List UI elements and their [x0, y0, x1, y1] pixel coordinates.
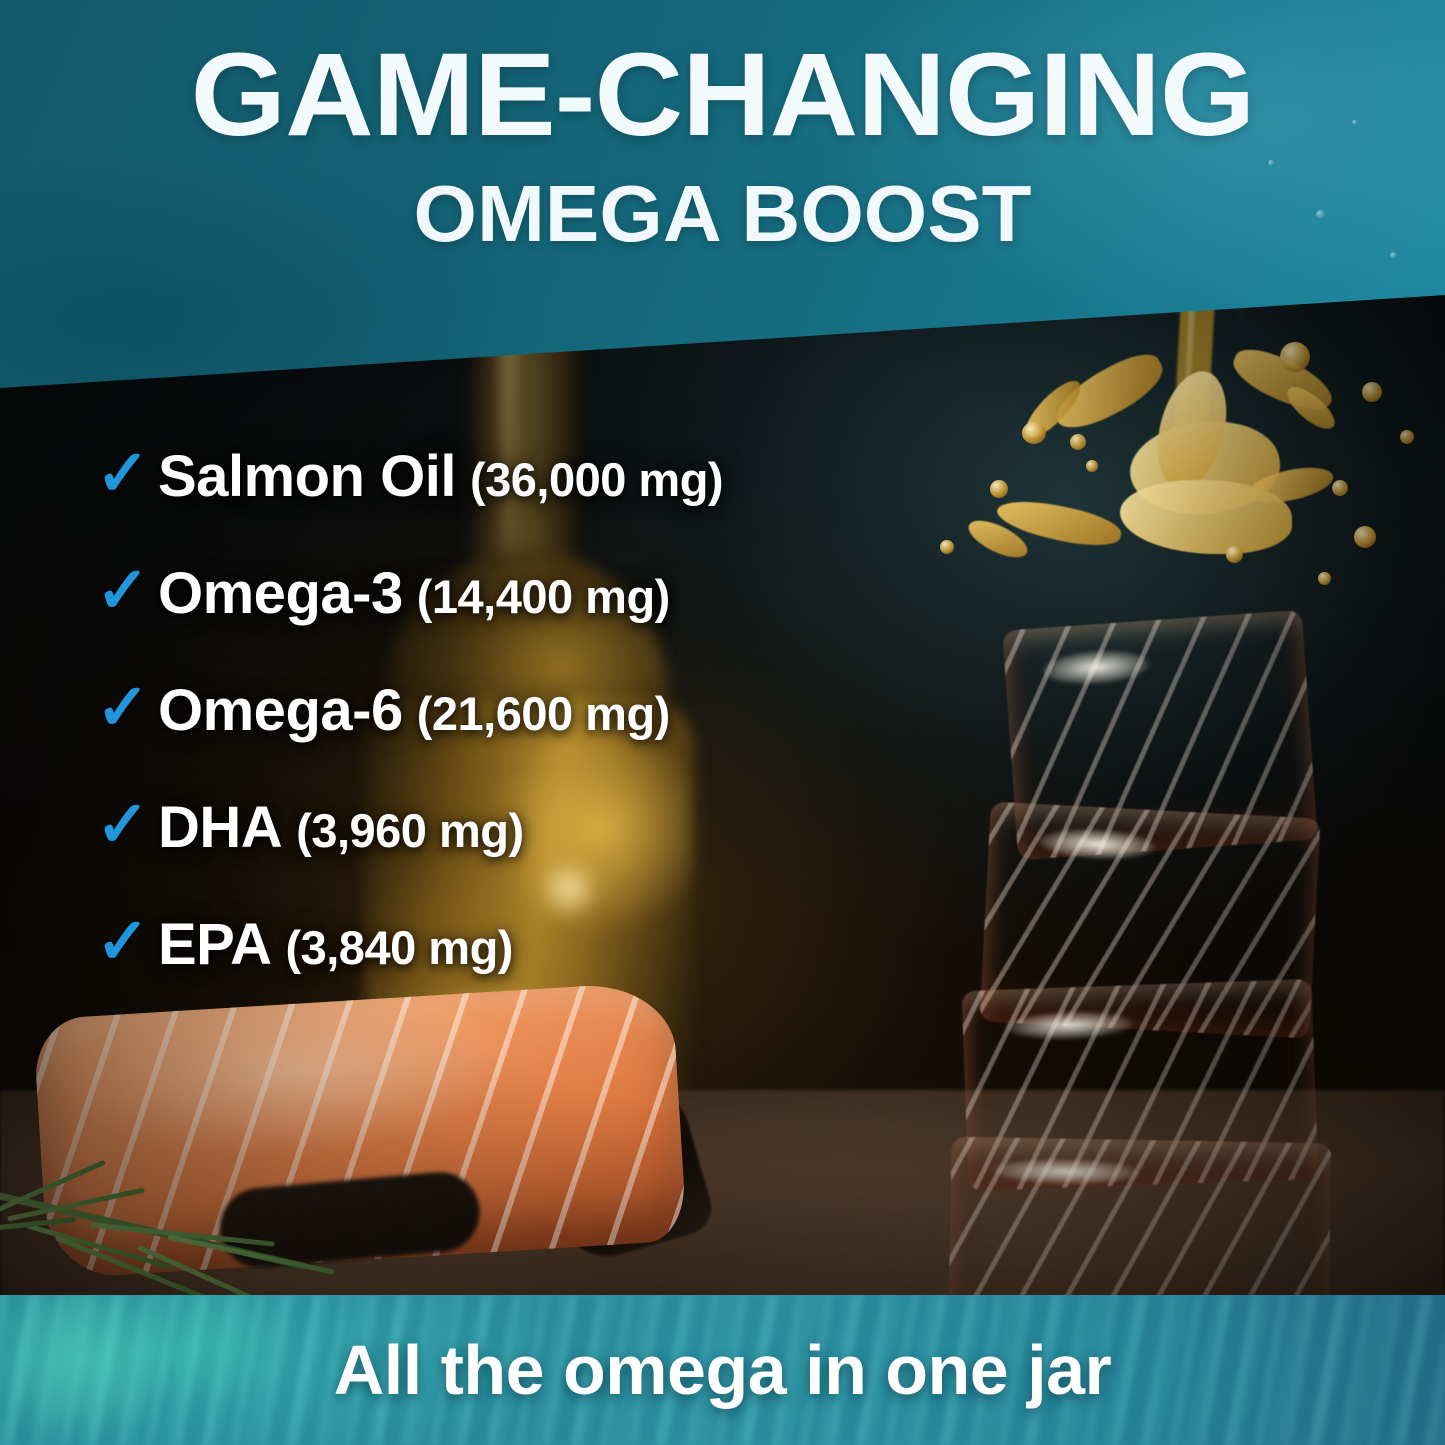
benefit-text: Salmon Oil (36,000 mg) — [158, 443, 723, 510]
benefit-text: Omega-3 (14,400 mg) — [158, 560, 670, 627]
list-item: ✓ Omega-6 (21,600 mg) — [96, 652, 956, 769]
list-item: ✓ Salmon Oil (36,000 mg) — [96, 418, 956, 535]
check-icon: ✓ — [96, 909, 158, 973]
list-item: ✓ Omega-3 (14,400 mg) — [96, 535, 956, 652]
list-item: ✓ DHA (3,960 mg) — [96, 769, 956, 886]
benefit-amount: (36,000 mg) — [470, 452, 723, 507]
page-subtitle: OMEGA BOOST — [0, 174, 1445, 254]
benefit-name: Salmon Oil — [158, 443, 456, 510]
benefit-text: EPA (3,840 mg) — [158, 911, 513, 978]
check-icon: ✓ — [96, 558, 158, 622]
check-icon: ✓ — [96, 792, 158, 856]
list-item: ✓ EPA (3,840 mg) — [96, 886, 956, 1003]
benefit-name: EPA — [158, 911, 271, 978]
benefit-name: Omega-6 — [158, 677, 403, 744]
benefit-amount: (14,400 mg) — [417, 569, 670, 624]
benefit-name: DHA — [158, 794, 282, 861]
check-icon: ✓ — [96, 675, 158, 739]
page-title: GAME-CHANGING — [0, 36, 1445, 154]
benefit-amount: (21,600 mg) — [417, 686, 670, 741]
product-infographic: GAME-CHANGING OMEGA BOOST ✓ Salmon Oil (… — [0, 0, 1445, 1445]
benefits-list: ✓ Salmon Oil (36,000 mg) ✓ Omega-3 (14,4… — [96, 418, 956, 1003]
tagline-banner: All the omega in one jar — [0, 1295, 1445, 1445]
check-icon: ✓ — [96, 441, 158, 505]
benefit-text: Omega-6 (21,600 mg) — [158, 677, 670, 744]
benefit-text: DHA (3,960 mg) — [158, 794, 524, 861]
benefit-name: Omega-3 — [158, 560, 403, 627]
benefit-amount: (3,840 mg) — [285, 920, 512, 975]
benefit-amount: (3,960 mg) — [296, 803, 523, 858]
tagline: All the omega in one jar — [0, 1330, 1445, 1410]
